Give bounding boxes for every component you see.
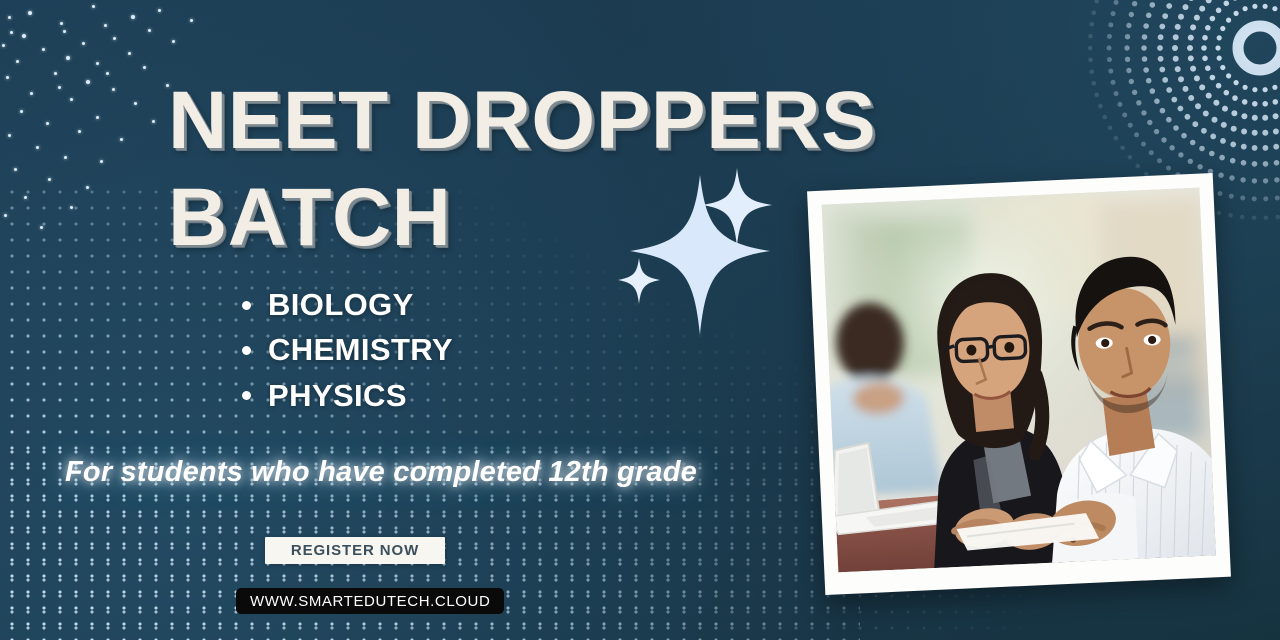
website-url-badge[interactable]: WWW.SMARTEDUTECH.CLOUD	[236, 588, 504, 614]
subject-label: CHEMISTRY	[268, 332, 453, 367]
headline-line-1: NEET DROPPERS	[168, 73, 928, 170]
register-now-button[interactable]: REGISTER NOW	[265, 537, 445, 564]
list-item: BIOLOGY	[236, 282, 453, 327]
list-item: CHEMISTRY	[236, 327, 453, 372]
subject-label: PHYSICS	[268, 378, 407, 413]
subject-label: BIOLOGY	[268, 287, 414, 322]
student-photo-frame	[807, 173, 1231, 595]
list-item: PHYSICS	[236, 373, 453, 418]
eligibility-tagline: For students who have completed 12th gra…	[18, 447, 744, 499]
subject-list: BIOLOGY CHEMISTRY PHYSICS	[236, 282, 453, 418]
neet-droppers-banner: NEET DROPPERS BATCH BIOLOGY CHEMISTRY PH…	[0, 0, 1280, 640]
student-photo	[822, 188, 1216, 573]
website-url-label: WWW.SMARTEDUTECH.CLOUD	[250, 593, 490, 610]
